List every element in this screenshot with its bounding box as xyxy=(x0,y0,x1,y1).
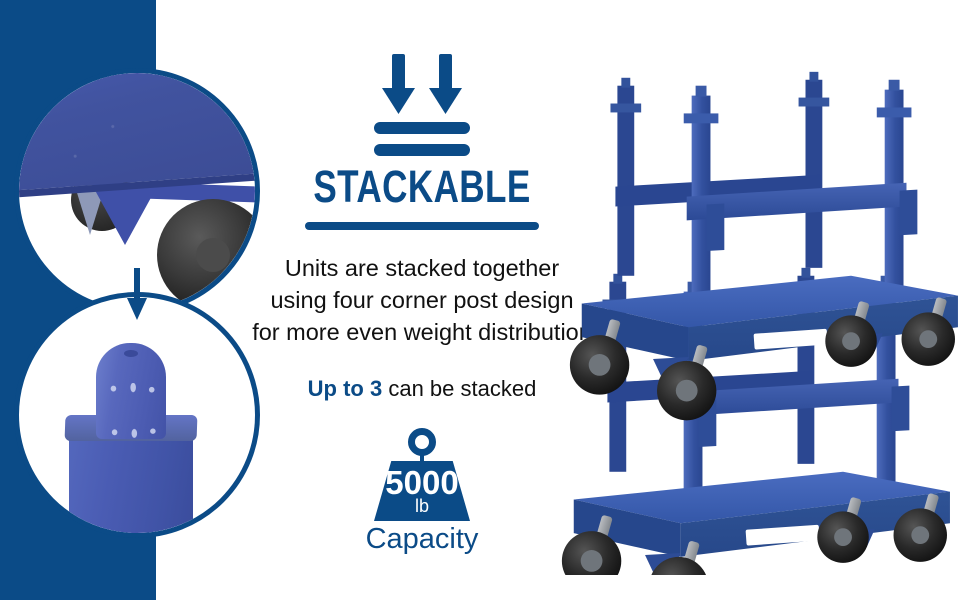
caster-wheel-large xyxy=(157,199,255,309)
post-square-base xyxy=(69,425,193,533)
capacity-badge: 5000 lb Capacity xyxy=(350,428,494,556)
page-title: STACKABLE xyxy=(297,162,547,212)
feature-description: Units are stacked together using four co… xyxy=(252,252,592,348)
stack-count-note: Up to 3 can be stacked xyxy=(262,375,582,403)
description-line-3: for more even weight distribution xyxy=(252,316,592,348)
capacity-unit: lb xyxy=(350,497,494,516)
post-cap-hole xyxy=(124,350,138,357)
stack-count-rest: can be stacked xyxy=(382,376,536,401)
weight-icon: 5000 lb xyxy=(350,428,494,520)
post-cap-highlights xyxy=(103,383,161,439)
feature-column: STACKABLE Units are stacked together usi… xyxy=(262,0,582,600)
stacked-platform-carts xyxy=(552,30,970,575)
title-divider xyxy=(305,222,539,230)
description-line-1: Units are stacked together xyxy=(252,252,592,284)
capacity-value: 5000 xyxy=(350,466,494,500)
corner-post-photo-image xyxy=(19,297,255,533)
stack-count-highlight: Up to 3 xyxy=(308,376,383,401)
corner-post-photo xyxy=(14,292,260,538)
stack-down-arrows-icon xyxy=(366,52,478,158)
description-line-2: using four corner post design xyxy=(252,284,592,316)
infographic-canvas: STACKABLE Units are stacked together usi… xyxy=(0,0,970,600)
deck-underside xyxy=(19,73,255,200)
down-arrow-icon xyxy=(127,268,147,324)
capacity-label: Capacity xyxy=(350,522,494,556)
upper-cart xyxy=(570,72,958,420)
deck-texture xyxy=(19,73,255,193)
cone-socket xyxy=(91,183,159,245)
